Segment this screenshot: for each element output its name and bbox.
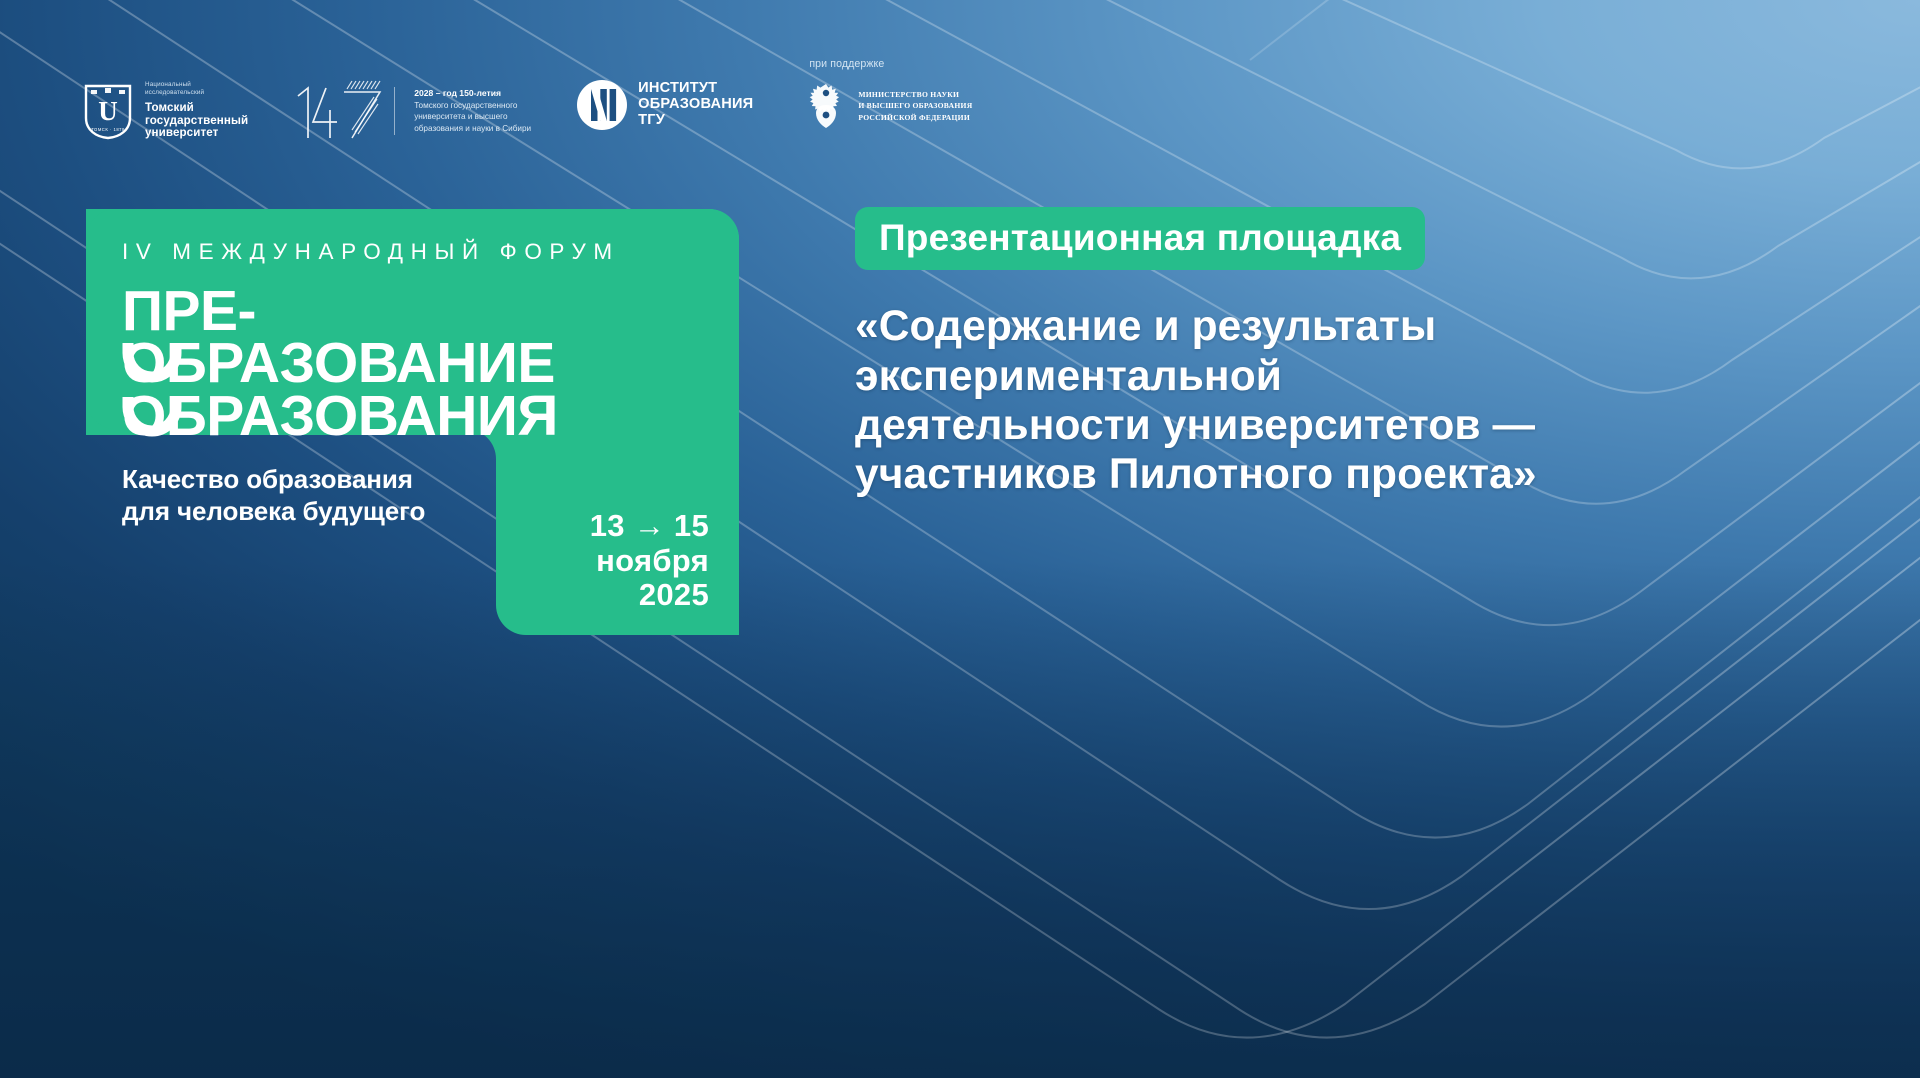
partner-logo-row: U ТОМСК · 1878 Национальный исследовател…	[82, 80, 972, 162]
147-anniversary-icon	[292, 80, 384, 142]
tsu-logo-text: Национальный исследовательский Томский г…	[145, 81, 248, 140]
session-title-line-4: участников Пилотного проекта»	[855, 450, 1895, 499]
anniversary-line-1: 2028 – год 150-летия	[414, 87, 531, 99]
logo-divider	[394, 87, 395, 135]
tsu-line-3: университет	[145, 126, 248, 139]
forum-identity-card: IV МЕЖДУНАРОДНЫЙ ФОРУМ ПРЕ- ОБРАЗОВАНИЕ …	[86, 209, 739, 635]
svg-text:U: U	[98, 96, 118, 126]
institute-line-2: ОБРАЗОВАНИЯ	[638, 97, 753, 113]
tsu-line-2: государственный	[145, 114, 248, 127]
ministry-line-3: РОССИЙСКОЙ ФЕДЕРАЦИИ	[858, 112, 972, 123]
institute-of-education-logo: ИНСТИТУТ ОБРАЗОВАНИЯ ТГУ	[577, 80, 753, 130]
tsu-small-line-1: Национальный	[145, 81, 248, 90]
forum-subtitle-line-1: Качество образования	[122, 464, 712, 496]
session-title-line-3: деятельности университетов —	[855, 401, 1895, 450]
forum-date-line-2: ноября	[509, 544, 709, 579]
institute-line-3: ТГУ	[638, 113, 753, 129]
session-title-line-2: экспериментальной	[855, 352, 1895, 401]
forum-kicker: IV МЕЖДУНАРОДНЫЙ ФОРУМ	[122, 239, 712, 265]
forum-title-line-3: ОБРАЗОВАНИЯ	[122, 390, 712, 442]
tsu-shield-year: ТОМСК · 1878	[91, 127, 125, 132]
session-title-line-1: «Содержание и результаты	[855, 302, 1895, 351]
anniversary-logo-text: 2028 – год 150-летия Томского государств…	[414, 87, 531, 134]
anniversary-logo: 2028 – год 150-летия Томского государств…	[292, 80, 531, 142]
forum-title-line-2: ОБРАЗОВАНИЕ	[122, 337, 712, 389]
forum-card-content: IV МЕЖДУНАРОДНЫЙ ФОРУМ ПРЕ- ОБРАЗОВАНИЕ …	[122, 239, 712, 528]
venue-badge: Презентационная площадка	[855, 207, 1425, 270]
institute-of-education-text: ИНСТИТУТ ОБРАЗОВАНИЯ ТГУ	[638, 81, 753, 128]
tsu-line-1: Томский	[145, 101, 248, 114]
ministry-logo-wrapper: при поддержке МИНИСТЕРСТВО НАУКИ И ВЫСШЕ…	[803, 80, 972, 132]
forum-date-line-1: 13 → 15	[509, 509, 709, 544]
institute-line-1: ИНСТИТУТ	[638, 81, 753, 97]
session-block: Презентационная площадка «Содержание и р…	[855, 207, 1895, 499]
ministry-line-1: МИНИСТЕРСТВО НАУКИ	[858, 89, 972, 100]
anniversary-line-2: Томского государственного	[414, 100, 531, 112]
forum-title: ПРЕ- ОБРАЗОВАНИЕ ОБРАЗОВАНИЯ	[122, 285, 712, 442]
ministry-support-label: при поддержке	[809, 58, 884, 70]
ministry-logo: МИНИСТЕРСТВО НАУКИ И ВЫСШЕГО ОБРАЗОВАНИЯ…	[803, 80, 972, 132]
tsu-logo: U ТОМСК · 1878 Национальный исследовател…	[82, 80, 248, 140]
anniversary-line-4: образования и науки в Сибири	[414, 123, 531, 135]
anniversary-line-3: университета и высшего	[414, 111, 531, 123]
forum-title-line-1: ПРЕ-	[122, 285, 712, 337]
ministry-logo-text: МИНИСТЕРСТВО НАУКИ И ВЫСШЕГО ОБРАЗОВАНИЯ…	[858, 89, 972, 123]
tsu-shield-icon: U ТОМСК · 1878	[82, 80, 134, 140]
ministry-line-2: И ВЫСШЕГО ОБРАЗОВАНИЯ	[858, 100, 972, 111]
forum-date-block: 13 → 15 ноября 2025	[509, 509, 709, 613]
institute-of-education-icon	[577, 80, 627, 130]
tsu-small-line-2: исследовательский	[145, 89, 248, 98]
coat-of-arms-icon	[803, 80, 849, 132]
session-title: «Содержание и результаты экспериментальн…	[855, 302, 1895, 499]
forum-date-line-3: 2025	[509, 578, 709, 613]
